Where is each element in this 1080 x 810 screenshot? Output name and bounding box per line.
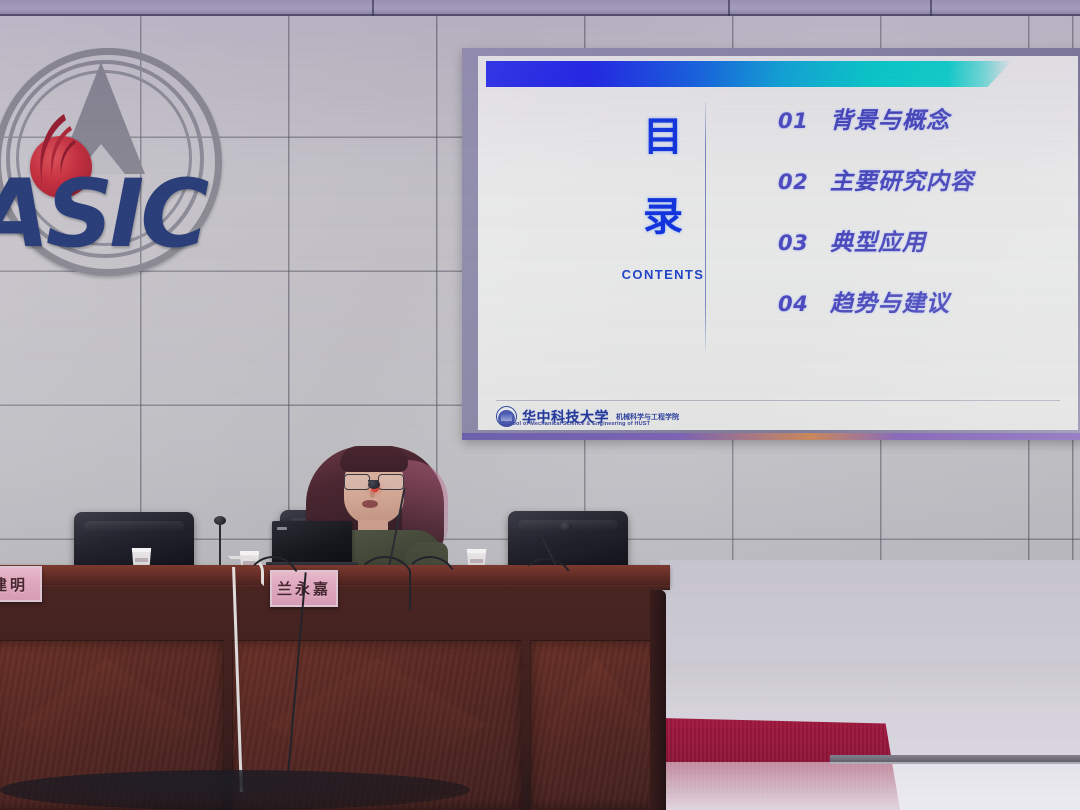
ceiling-seam-line [0, 14, 1080, 16]
slide-heading-block: 目 录 CONTENTS [608, 117, 718, 282]
slide-accent-bar-taper [948, 61, 1012, 87]
podium-side-edge [650, 590, 666, 810]
toc-label: 典型应用 [830, 223, 926, 257]
toc-label: 背景与概念 [830, 101, 950, 135]
screen-bottom-reflection [462, 433, 1080, 440]
toc-number: 04 [778, 292, 830, 316]
slide-footer-rule [496, 400, 1060, 401]
slide-heading-char-2: 录 [608, 197, 718, 237]
microphone-head-center [368, 480, 380, 489]
floor-cable-bundle [0, 770, 470, 810]
toc-number: 01 [778, 109, 830, 133]
projection-screen-surface: 目 录 CONTENTS 01 背景与概念 02 主要研究内容 03 [478, 56, 1078, 430]
toc-number: 03 [778, 231, 830, 255]
presenter-fringe [340, 446, 408, 472]
floor-reflection [660, 762, 1080, 810]
microphone-head-left [214, 516, 226, 525]
nameplate-left-text: 建明 [0, 574, 28, 595]
slide-heading-en: CONTENTS [608, 267, 718, 282]
hust-school-name-cn: 机械科学与工程学院 [616, 412, 679, 422]
slide-toc-list: 01 背景与概念 02 主要研究内容 03 典型应用 04 趋势与建议 [778, 101, 1048, 345]
glasses-right-lens [378, 474, 404, 490]
conference-photo-scene: CASIC 目 录 CONTENTS 01 背景与概念 [0, 0, 1080, 810]
slide-heading-char-1: 目 [608, 117, 718, 157]
casic-wall-logo: CASIC [0, 40, 302, 270]
laptop-logo [277, 527, 287, 530]
ceiling-seam-b [728, 0, 730, 16]
nameplate-left: 建明 [0, 566, 42, 602]
slide-body: 目 录 CONTENTS 01 背景与概念 02 主要研究内容 03 [478, 87, 1078, 387]
ceiling-seam-c [930, 0, 932, 16]
ceiling-seam-a [372, 0, 374, 16]
casic-wordmark: CASIC [0, 160, 205, 269]
toc-item: 03 典型应用 [778, 223, 1048, 257]
glasses-left-lens [344, 474, 370, 490]
hust-school-name-en: School of Mechanical Science & Engineeri… [502, 421, 650, 427]
microphone-head-right [560, 522, 572, 531]
lower-wall-right [660, 560, 1080, 670]
podium-panel [530, 640, 664, 810]
toc-label: 主要研究内容 [830, 162, 974, 196]
slide-vertical-divider [705, 102, 706, 350]
toc-number: 02 [778, 170, 830, 194]
cup-print [470, 559, 483, 563]
slide-accent-bar [486, 61, 948, 87]
projection-screen-frame: 目 录 CONTENTS 01 背景与概念 02 主要研究内容 03 [462, 48, 1080, 440]
presenter-mouth [362, 500, 378, 508]
toc-label: 趋势与建议 [830, 284, 950, 318]
toc-item: 04 趋势与建议 [778, 284, 1048, 318]
toc-item: 01 背景与概念 [778, 101, 1048, 135]
cup-print [135, 558, 148, 562]
toc-item: 02 主要研究内容 [778, 162, 1048, 196]
